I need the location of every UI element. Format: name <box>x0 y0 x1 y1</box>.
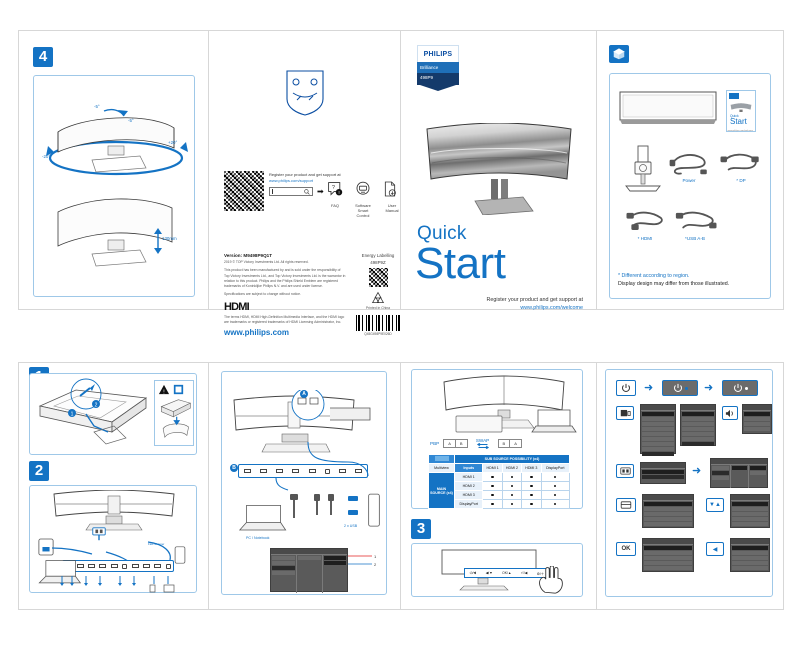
table-row-hdmi2: HDMI 2 <box>455 482 483 491</box>
updown-icon-key[interactable]: ▼▲ <box>706 498 724 512</box>
package-card: Quick Start www.philips.com/welcome <box>609 73 771 299</box>
ok-icon: OK <box>622 546 631 552</box>
pbp-right-b: B <box>499 440 511 447</box>
osd-smartimage-game-menu[interactable] <box>680 404 716 446</box>
osd-leader-lines: 1 2 <box>348 552 378 576</box>
io-port-dp <box>111 564 118 568</box>
bottom-fold-row: 1 1 2 <box>18 362 784 610</box>
pbp-box-left: A B <box>443 439 467 448</box>
arrow-right-icon-2: ➜ <box>704 383 713 394</box>
callout-a: A <box>300 390 308 398</box>
brand-family: Brilliance <box>417 62 459 73</box>
table-inputs-label: Inputs <box>455 464 483 473</box>
manual-label: UserManual <box>383 203 401 213</box>
pbp-left-a: A <box>444 440 456 447</box>
control-key-1[interactable]: ⏻/◀ <box>470 571 476 575</box>
panel-step4: 4 -20° +20° -5° -5° <box>19 31 209 309</box>
panel-cover: PHILIPS Brilliance 498P9 <box>401 31 597 309</box>
table-col-dp: DisplayPort <box>541 464 569 473</box>
connection-card: A B <box>221 371 387 595</box>
package-footnote-1: * Different according to region. <box>618 272 768 280</box>
step4-card: -20° +20° -5° -5° 130mm <box>33 75 195 297</box>
svg-text:?: ? <box>332 185 335 191</box>
connection-plugs <box>284 492 374 526</box>
swap-icon <box>476 443 490 449</box>
top-fold-row: 4 -20° +20° -5° -5° <box>18 30 784 310</box>
user-manual-link[interactable]: UserManual <box>383 181 401 213</box>
io-port-audio <box>122 564 127 569</box>
cover-register-note: Register your product and get support at… <box>455 297 583 313</box>
swivel-left-angle: -20° <box>42 154 50 159</box>
control-key-4[interactable]: ⏎/◀ <box>521 571 527 575</box>
osd-item-pbp[interactable] <box>272 566 295 570</box>
smartcontrol-link[interactable]: SoftwareSmart Control <box>355 181 375 218</box>
svg-text:1: 1 <box>71 412 74 418</box>
step2-card: Fast Charger <box>29 485 197 593</box>
input-icon <box>620 467 631 475</box>
smartcontrol-label: SoftwareSmart Control <box>351 203 375 218</box>
package-contents-icon <box>609 45 629 63</box>
osd-input-submenu[interactable] <box>710 458 768 488</box>
osd-item-smartimage[interactable] <box>272 561 295 565</box>
hdmi-logo: HDMI <box>224 301 346 313</box>
panel-osd-keymap: ➜ ➜ <box>597 363 783 609</box>
io-port-hdmi2 <box>88 564 95 568</box>
accessory-usb-label: *USB A-B <box>672 236 718 241</box>
osd-value-off[interactable] <box>324 561 346 565</box>
height-illustration <box>34 194 196 274</box>
arrow-right-icon: ➡ <box>317 187 324 196</box>
cover-monitor-image <box>423 123 575 215</box>
recycle-caption: Printed in China <box>355 306 401 311</box>
io-port-usb-down <box>143 564 150 568</box>
power-led-on <box>745 387 748 390</box>
pointing-hand-icon <box>536 566 566 594</box>
panel-package-contents: Quick Start www.philips.com/welcome <box>597 31 783 309</box>
osd-item-setup[interactable] <box>272 571 295 575</box>
legal-block: Version: M9498P9Q1T 2019 © TOP Victory I… <box>224 253 346 337</box>
spec-note: Specifications are subject to change wit… <box>224 292 346 297</box>
smartimage-icon-key[interactable] <box>616 406 634 420</box>
accessory-usb-cable-icon <box>674 208 720 234</box>
step-number-2: 2 <box>29 461 49 481</box>
pbp-box-right: B A <box>498 439 522 448</box>
step1-detail-illustration <box>158 398 192 444</box>
svg-text:2: 2 <box>95 403 98 409</box>
power-icon <box>621 383 631 393</box>
energy-qr-code <box>369 268 388 287</box>
osd-value-on[interactable] <box>324 556 346 560</box>
osd-input-menu[interactable] <box>640 462 686 484</box>
back-icon-key[interactable]: ◀ <box>706 542 724 556</box>
table-row-dp: DisplayPort <box>455 500 483 509</box>
svg-text:2: 2 <box>374 562 377 567</box>
search-input[interactable] <box>269 187 313 196</box>
control-key-2[interactable]: ◀/▼ <box>486 571 493 575</box>
note-usb: 2 x USB <box>344 524 357 528</box>
swap-control[interactable]: SWAP <box>476 438 490 449</box>
osd-volume-menu[interactable] <box>742 404 772 434</box>
osd-navigate-menu[interactable] <box>730 494 770 528</box>
connection-laptop <box>234 502 288 536</box>
tilt-up-angle: -5° <box>94 104 100 109</box>
table-col-hdmi2: HDMI 2 <box>502 464 521 473</box>
osd-card: ➜ ➜ <box>605 369 773 597</box>
legal-text: This product has been manufactured by an… <box>224 268 346 289</box>
updown-icon: ▼▲ <box>709 502 721 508</box>
table-side-label: MAIN SOURCE (x4) <box>429 473 455 509</box>
accessory-hdmi-label: * HDMI <box>622 236 668 241</box>
power-icon <box>733 383 743 393</box>
input-icon-key[interactable] <box>616 464 634 478</box>
connection-osd-menu <box>270 548 348 592</box>
package-footnote-2: Display design may differ from those ill… <box>618 280 768 288</box>
barcode-number: Q45G498P9E026D <box>355 332 401 337</box>
table-row-hdmi3: HDMI 3 <box>455 491 483 500</box>
cover-title-start: Start <box>415 239 505 289</box>
osd-main-menu[interactable] <box>642 494 694 528</box>
warning-triangle-icon: ! <box>158 384 170 395</box>
power-state-standby <box>662 380 698 396</box>
sub-source-table: SUB SOURCE POSSIBILITY (x4) Multiview In… <box>428 454 570 509</box>
thumb-url: www.philips.com/welcome <box>727 130 753 132</box>
step-number-4: 4 <box>33 47 53 67</box>
version-label: Version: M9498P9Q1T <box>224 253 346 258</box>
step3-card: ⏻/◀ ◀/▼ OK/▲ ⏎/◀ ⚙/＋ <box>411 543 583 597</box>
recycle-icon <box>370 291 386 305</box>
philips-url[interactable]: www.philips.com <box>224 328 346 337</box>
step2-connection-arrows <box>58 574 198 594</box>
note-pc: PC / Notebook <box>246 536 269 540</box>
table-corner-label: Multiview <box>429 464 455 473</box>
volume-icon <box>725 409 735 418</box>
philips-brand-box: PHILIPS Brilliance 498P9 <box>417 45 459 85</box>
accessory-hdmi-cable-icon <box>624 208 668 234</box>
smartcontrol-icon <box>355 181 371 197</box>
manual-note-icon <box>173 384 184 395</box>
tilt-down-angle: -5° <box>128 118 134 123</box>
table-header-main: SUB SOURCE POSSIBILITY (x4) <box>455 455 570 464</box>
table-col-hdmi3: HDMI 3 <box>522 464 541 473</box>
cover-register-line1: Register your product and get support at <box>455 297 583 305</box>
panel-pbp-step3: PBP A B SWAP B A <box>401 363 597 609</box>
volume-icon-key[interactable] <box>722 406 738 420</box>
manual-icon <box>383 181 397 197</box>
philips-shield-logo <box>283 69 327 117</box>
pbp-left-b: B <box>456 440 467 447</box>
pbp-illustration <box>418 374 578 436</box>
panel-step1-step2: 1 1 2 <box>19 363 209 609</box>
pbp-swap-row: PBP A B SWAP B A <box>430 438 522 449</box>
smartimage-icon <box>620 409 631 418</box>
table-row-hdmi1: HDMI 1 <box>455 473 483 482</box>
panel-connection-diagram: A B <box>209 363 401 609</box>
accessory-dp-cable-icon <box>718 150 762 176</box>
menu-icon-key[interactable] <box>616 498 636 512</box>
barcode <box>356 315 400 331</box>
step1-card: 1 2 ! <box>29 373 197 455</box>
svg-text:!: ! <box>338 190 339 196</box>
package-monitor <box>618 90 718 132</box>
package-guide-thumb: Quick Start www.philips.com/welcome <box>726 90 756 132</box>
pbp-label: PBP <box>430 441 439 446</box>
energy-block: Energy Labelling 498P9Z Printed in China… <box>355 253 401 337</box>
io-port-hdmi3 <box>99 564 106 568</box>
osd-confirm-menu[interactable] <box>642 538 694 572</box>
hdmi-legal: The terms HDMI, HDMI High-Definition Mul… <box>224 315 346 326</box>
thumb-start: Start <box>730 118 755 126</box>
phone-icon <box>174 546 186 564</box>
accessory-power-label: Power <box>666 178 712 183</box>
accessory-dp-label: * DP <box>718 178 764 183</box>
faq-link[interactable]: ? ! FAQ <box>327 181 343 209</box>
accessory-power-cable-icon <box>668 150 710 176</box>
step-number-3: 3 <box>411 519 431 539</box>
io-port-kensington <box>166 564 171 569</box>
osd-col2-row1[interactable] <box>298 556 321 560</box>
osd-item-lowblue[interactable] <box>272 556 295 560</box>
io-port-usb-up <box>132 564 139 568</box>
step1-warning-box: ! <box>154 380 194 446</box>
brand-model: 498P9 <box>417 73 459 85</box>
height-label: 130mm <box>162 236 177 241</box>
osd-back-menu[interactable] <box>730 538 770 572</box>
faq-icon: ? ! <box>327 181 343 197</box>
power-state-on <box>722 380 758 396</box>
energy-label-model: 498P9Z <box>355 260 401 267</box>
cover-register-line2[interactable]: www.philips.com/welcome <box>455 305 583 313</box>
arrow-right-icon-3: ➜ <box>692 466 701 477</box>
control-key-3[interactable]: OK/▲ <box>502 571 511 575</box>
quick-start-sheet: 4 -20° +20° -5° -5° <box>0 0 802 645</box>
support-qr-code <box>224 171 264 211</box>
back-icon: ◀ <box>713 546 718 553</box>
ok-icon-key[interactable]: OK <box>616 542 636 556</box>
connection-usb-hub <box>366 492 382 530</box>
power-icon-key[interactable] <box>616 380 636 396</box>
copyright-text: 2019 © TOP Victory Investments Ltd. All … <box>224 260 346 265</box>
osd-smartimage-menu[interactable] <box>640 404 676 454</box>
accessory-stand-icon <box>622 144 666 194</box>
connection-wires <box>222 432 388 492</box>
pbp-card: PBP A B SWAP B A <box>411 369 583 509</box>
io-port-lan <box>154 564 161 568</box>
table-row: MAIN SOURCE (x4) HDMI 1 <box>429 473 570 482</box>
svg-text:1: 1 <box>374 554 377 559</box>
fast-charger-label: Fast Charger <box>148 542 164 546</box>
energy-label-title: Energy Labelling <box>355 253 401 260</box>
menu-icon <box>620 501 632 509</box>
arrow-right-icon-1: ➜ <box>644 383 653 394</box>
swivel-right-angle: +20° <box>168 140 177 145</box>
brand-name: PHILIPS <box>424 51 453 58</box>
faq-label: FAQ <box>327 203 343 209</box>
step2-monitor-rear <box>50 490 178 532</box>
table-col-hdmi1: HDMI 1 <box>483 464 502 473</box>
pbp-right-a: A <box>510 440 521 447</box>
panel-support-legal: Register your product and get support at… <box>209 31 401 309</box>
step1-illustration: 1 2 <box>34 376 154 452</box>
magnifier-icon <box>304 189 310 195</box>
power-led <box>685 387 688 390</box>
power-icon <box>673 383 683 393</box>
package-footnote: * Different according to region. Display… <box>618 272 768 289</box>
